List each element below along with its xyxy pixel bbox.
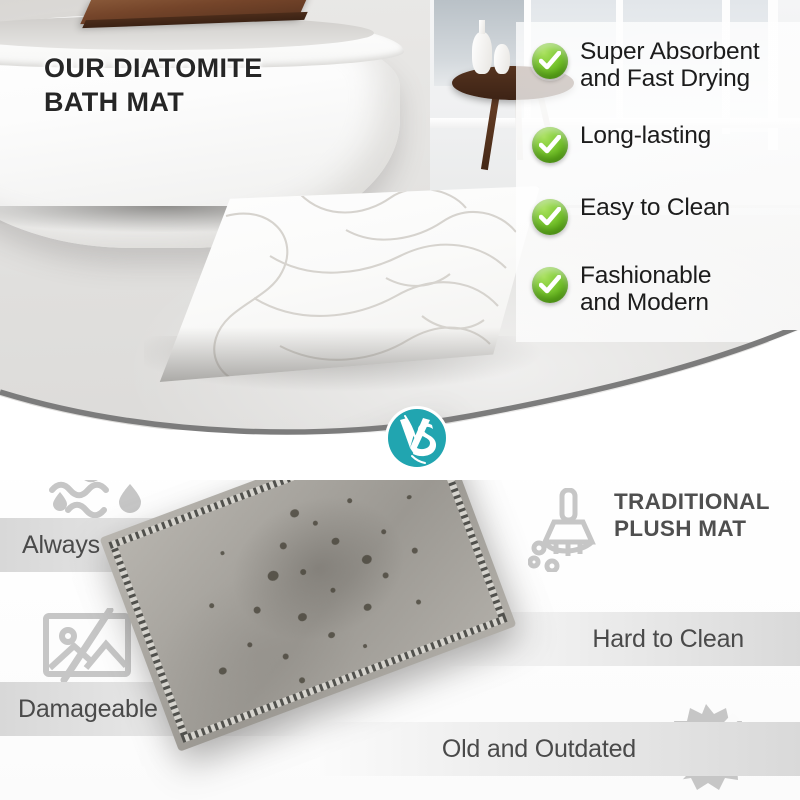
feature-item-long-lasting: Long-lasting: [532, 122, 711, 163]
check-circle-icon: [532, 267, 568, 303]
feature-label: Fashionable and Modern: [580, 262, 711, 317]
check-circle-icon: [532, 199, 568, 235]
feature-label: Easy to Clean: [580, 194, 730, 221]
feature-item-easy-to-clean: Easy to Clean: [532, 194, 730, 235]
comparison-section: Always Damp Damageable Hard to Clean Old…: [0, 430, 800, 800]
broom-icon: [528, 488, 604, 577]
feature-label: Super Absorbent and Fast Drying: [580, 38, 760, 93]
page-title: OUR DIATOMITE BATH MAT: [44, 52, 263, 120]
comparison-heading-line-1: TRADITIONAL: [614, 488, 770, 515]
infographic-page: OUR DIATOMITE BATH MAT Super Absorbent a…: [0, 0, 800, 800]
feature-list-panel: Super Absorbent and Fast Drying Long-las…: [516, 22, 800, 342]
con-label: Damageable: [18, 695, 158, 724]
feature-item-super-absorbent: Super Absorbent and Fast Drying: [532, 38, 760, 93]
title-line-2: BATH MAT: [44, 86, 263, 120]
vase: [472, 32, 492, 74]
comparison-heading: TRADITIONAL PLUSH MAT: [614, 488, 770, 542]
feature-item-fashionable: Fashionable and Modern: [532, 262, 711, 317]
con-label: Hard to Clean: [592, 625, 744, 654]
vs-badge: [383, 404, 451, 472]
feature-label: Long-lasting: [580, 122, 711, 149]
con-label: Old and Outdated: [442, 735, 636, 764]
check-circle-icon: [532, 43, 568, 79]
con-item-old-and-outdated: Old and Outdated: [320, 722, 800, 776]
check-circle-icon: [532, 127, 568, 163]
title-line-1: OUR DIATOMITE: [44, 52, 263, 86]
broken-image-icon: [40, 608, 134, 687]
comparison-heading-line-2: PLUSH MAT: [614, 515, 770, 542]
vase: [494, 44, 510, 74]
